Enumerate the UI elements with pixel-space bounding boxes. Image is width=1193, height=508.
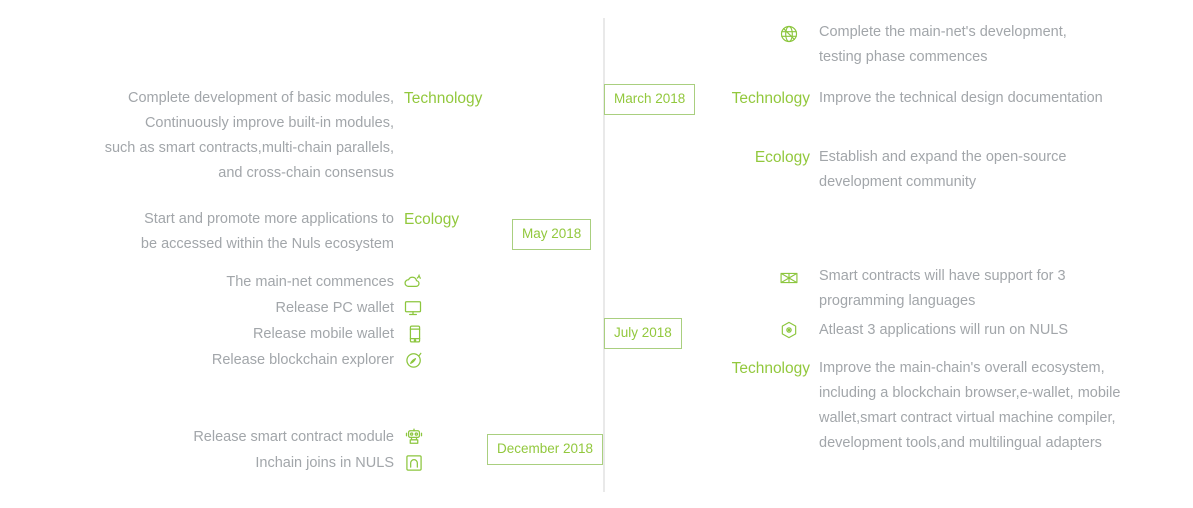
right-entry-description-programming-languages: Smart contracts will have support for 3 … xyxy=(819,264,1189,314)
right-entry-description-main-net: Complete the main-net's development, tes… xyxy=(819,20,1189,70)
left-icon-item-label-mobile-wallet: Release mobile wallet xyxy=(90,322,394,347)
date-chip-july-2018[interactable]: July 2018 xyxy=(604,318,682,349)
right-entry-category-technology-march: Technology xyxy=(660,86,810,111)
left-entry-category-technology: Technology xyxy=(404,86,482,111)
left-icon-item-label-blockchain-explorer: Release blockchain explorer xyxy=(60,348,394,373)
right-entry-description-design-documentation: Improve the technical design documentati… xyxy=(819,86,1189,111)
left-entry-category-ecology: Ecology xyxy=(404,207,459,232)
robot-icon xyxy=(404,427,424,447)
left-icon-item-label-main-net: The main-net commences xyxy=(90,270,394,295)
left-icon-item-label-inchain: Inchain joins in NULS xyxy=(90,451,394,476)
code-contract-icon xyxy=(779,268,799,288)
right-entry-description-open-source-community: Establish and expand the open-source dev… xyxy=(819,145,1189,195)
globe-icon xyxy=(779,24,799,44)
left-icon-item-label-pc-wallet: Release PC wallet xyxy=(90,296,394,321)
right-entry-description-main-chain-ecosystem: Improve the main-chain's overall ecosyst… xyxy=(819,356,1193,456)
cloud-icon xyxy=(403,272,423,292)
compass-explorer-icon xyxy=(404,350,424,370)
roadmap-timeline: Complete development of basic modules, C… xyxy=(0,0,1193,508)
mobile-phone-icon xyxy=(405,324,425,344)
right-entry-description-applications-on-nuls: Atleast 3 applications will run on NULS xyxy=(819,318,1189,343)
left-icon-item-label-smart-contract-module: Release smart contract module xyxy=(60,425,394,450)
date-chip-may-2018[interactable]: May 2018 xyxy=(512,219,591,250)
chain-link-icon xyxy=(404,453,424,473)
right-entry-category-ecology: Ecology xyxy=(660,145,810,170)
monitor-icon xyxy=(403,298,423,318)
date-chip-december-2018[interactable]: December 2018 xyxy=(487,434,603,465)
left-entry-description-ecology: Start and promote more applications to b… xyxy=(20,207,394,257)
right-entry-category-technology-july: Technology xyxy=(660,356,810,381)
left-entry-description-technology: Complete development of basic modules, C… xyxy=(20,86,394,186)
hexagon-node-icon xyxy=(779,320,799,340)
